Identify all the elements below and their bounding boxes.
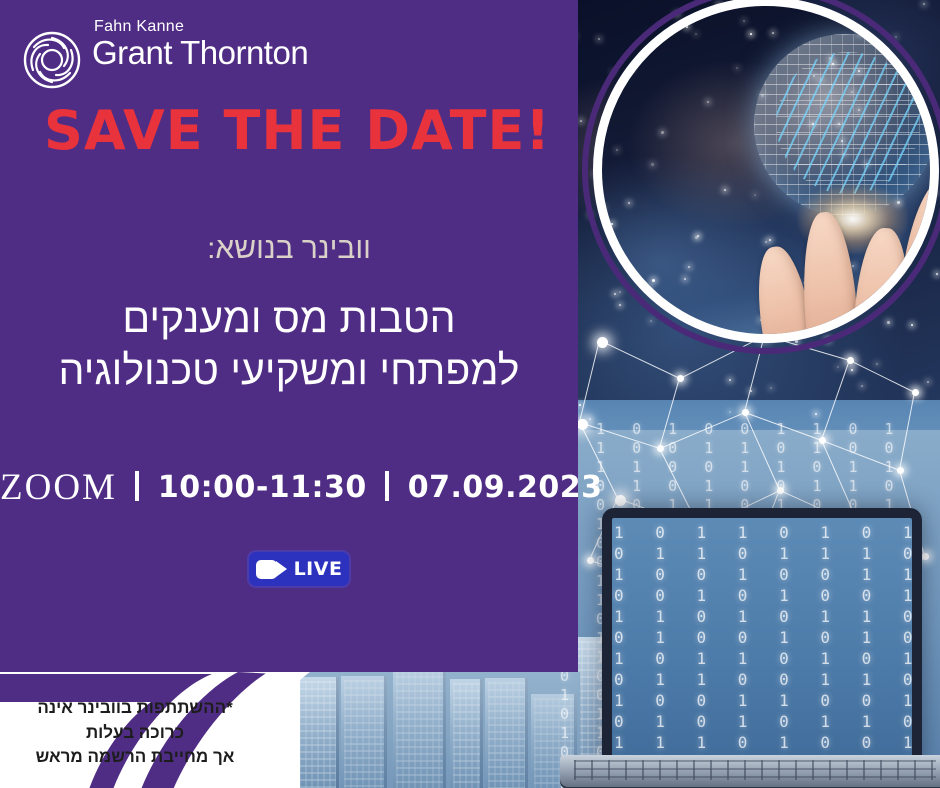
network-edge [600, 340, 680, 379]
live-badge-label: LIVE [294, 558, 343, 580]
save-the-date-poster: 0 1 0 1 0 0 1 1 0 1 1 1 0 0 1 1 0 1 0 0 … [0, 0, 940, 788]
network-edge [659, 378, 680, 448]
footer-note-line-1: *ההשתתפות בוובינר אינה [0, 696, 270, 721]
detail-separator-1 [135, 471, 139, 501]
hand-graphic [760, 194, 939, 343]
brand-logo: Fahn Kanne Grant Thornton [22, 18, 308, 90]
network-edge [579, 340, 600, 422]
footer-note-line-3: אך מחייבת הרשמה מראש [0, 745, 270, 770]
footer-region: *ההשתתפות בוובינר אינה כרוכה בעלות אך מח… [0, 672, 940, 788]
network-edge [850, 360, 915, 393]
video-camera-icon [256, 560, 286, 579]
hand-holding-digital-globe-photo [593, 0, 939, 343]
footer-note-line-2: כרוכה בעלות [0, 721, 270, 746]
network-edge [899, 392, 915, 470]
event-time: 10:00-11:30 [158, 470, 367, 505]
live-badge: LIVE [249, 552, 349, 586]
network-edge [821, 360, 850, 440]
webinar-title-line-2: למפתחי ומשקיעי טכנולוגיה [0, 344, 578, 396]
platform-label: ZOOM [0, 467, 117, 508]
event-date: 07.09.2023 [408, 470, 603, 505]
brand-name: Grant Thornton [92, 34, 308, 72]
save-the-date-title: SAVE THE DATE! [44, 104, 551, 158]
webinar-title-line-1: הטבות מס ומענקים [0, 292, 578, 344]
webinar-title: הטבות מס ומענקים למפתחי ומשקיעי טכנולוגי… [0, 292, 578, 397]
event-details-line: ZOOM 10:00-11:30 07.09.2023 [0, 466, 578, 509]
network-edge [660, 412, 745, 449]
detail-separator-2 [385, 471, 389, 501]
footer-note: *ההשתתפות בוובינר אינה כרוכה בעלות אך מח… [0, 696, 270, 770]
circle-inset-frame [582, 0, 940, 354]
finger-2 [798, 210, 862, 343]
webinar-subject-label: וובינר בנושא: [0, 232, 578, 266]
purple-content-panel: Fahn Kanne Grant Thornton SAVE THE DATE!… [0, 0, 578, 672]
grant-thornton-swirl-icon [22, 30, 82, 90]
